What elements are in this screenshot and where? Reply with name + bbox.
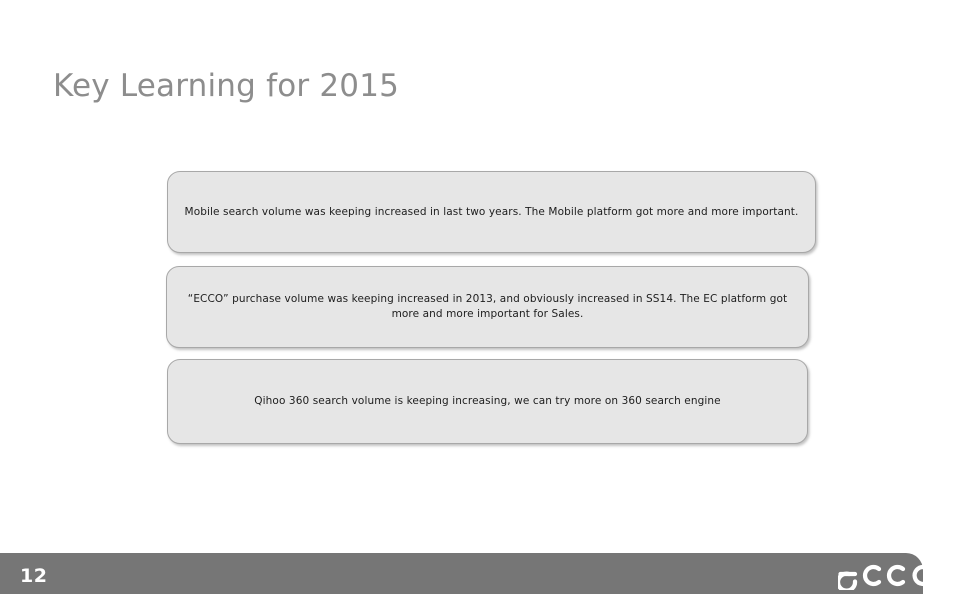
callout-text: “ECCO” purchase volume was keeping incre…: [183, 292, 792, 322]
callout-box-qihoo-360[interactable]: Qihoo 360 search volume is keeping incre…: [167, 359, 808, 444]
slide-canvas: Key Learning for 2015 Mobile search volu…: [0, 0, 960, 600]
ecco-logo: [838, 558, 942, 590]
callout-text: Mobile search volume was keeping increas…: [185, 205, 799, 220]
footer-bar: [0, 553, 923, 594]
page-number: 12: [20, 567, 47, 586]
callout-list: Mobile search volume was keeping increas…: [0, 0, 960, 600]
callout-box-ecco-purchase[interactable]: “ECCO” purchase volume was keeping incre…: [166, 266, 809, 348]
callout-box-mobile-search[interactable]: Mobile search volume was keeping increas…: [167, 171, 816, 253]
callout-text: Qihoo 360 search volume is keeping incre…: [254, 394, 720, 409]
